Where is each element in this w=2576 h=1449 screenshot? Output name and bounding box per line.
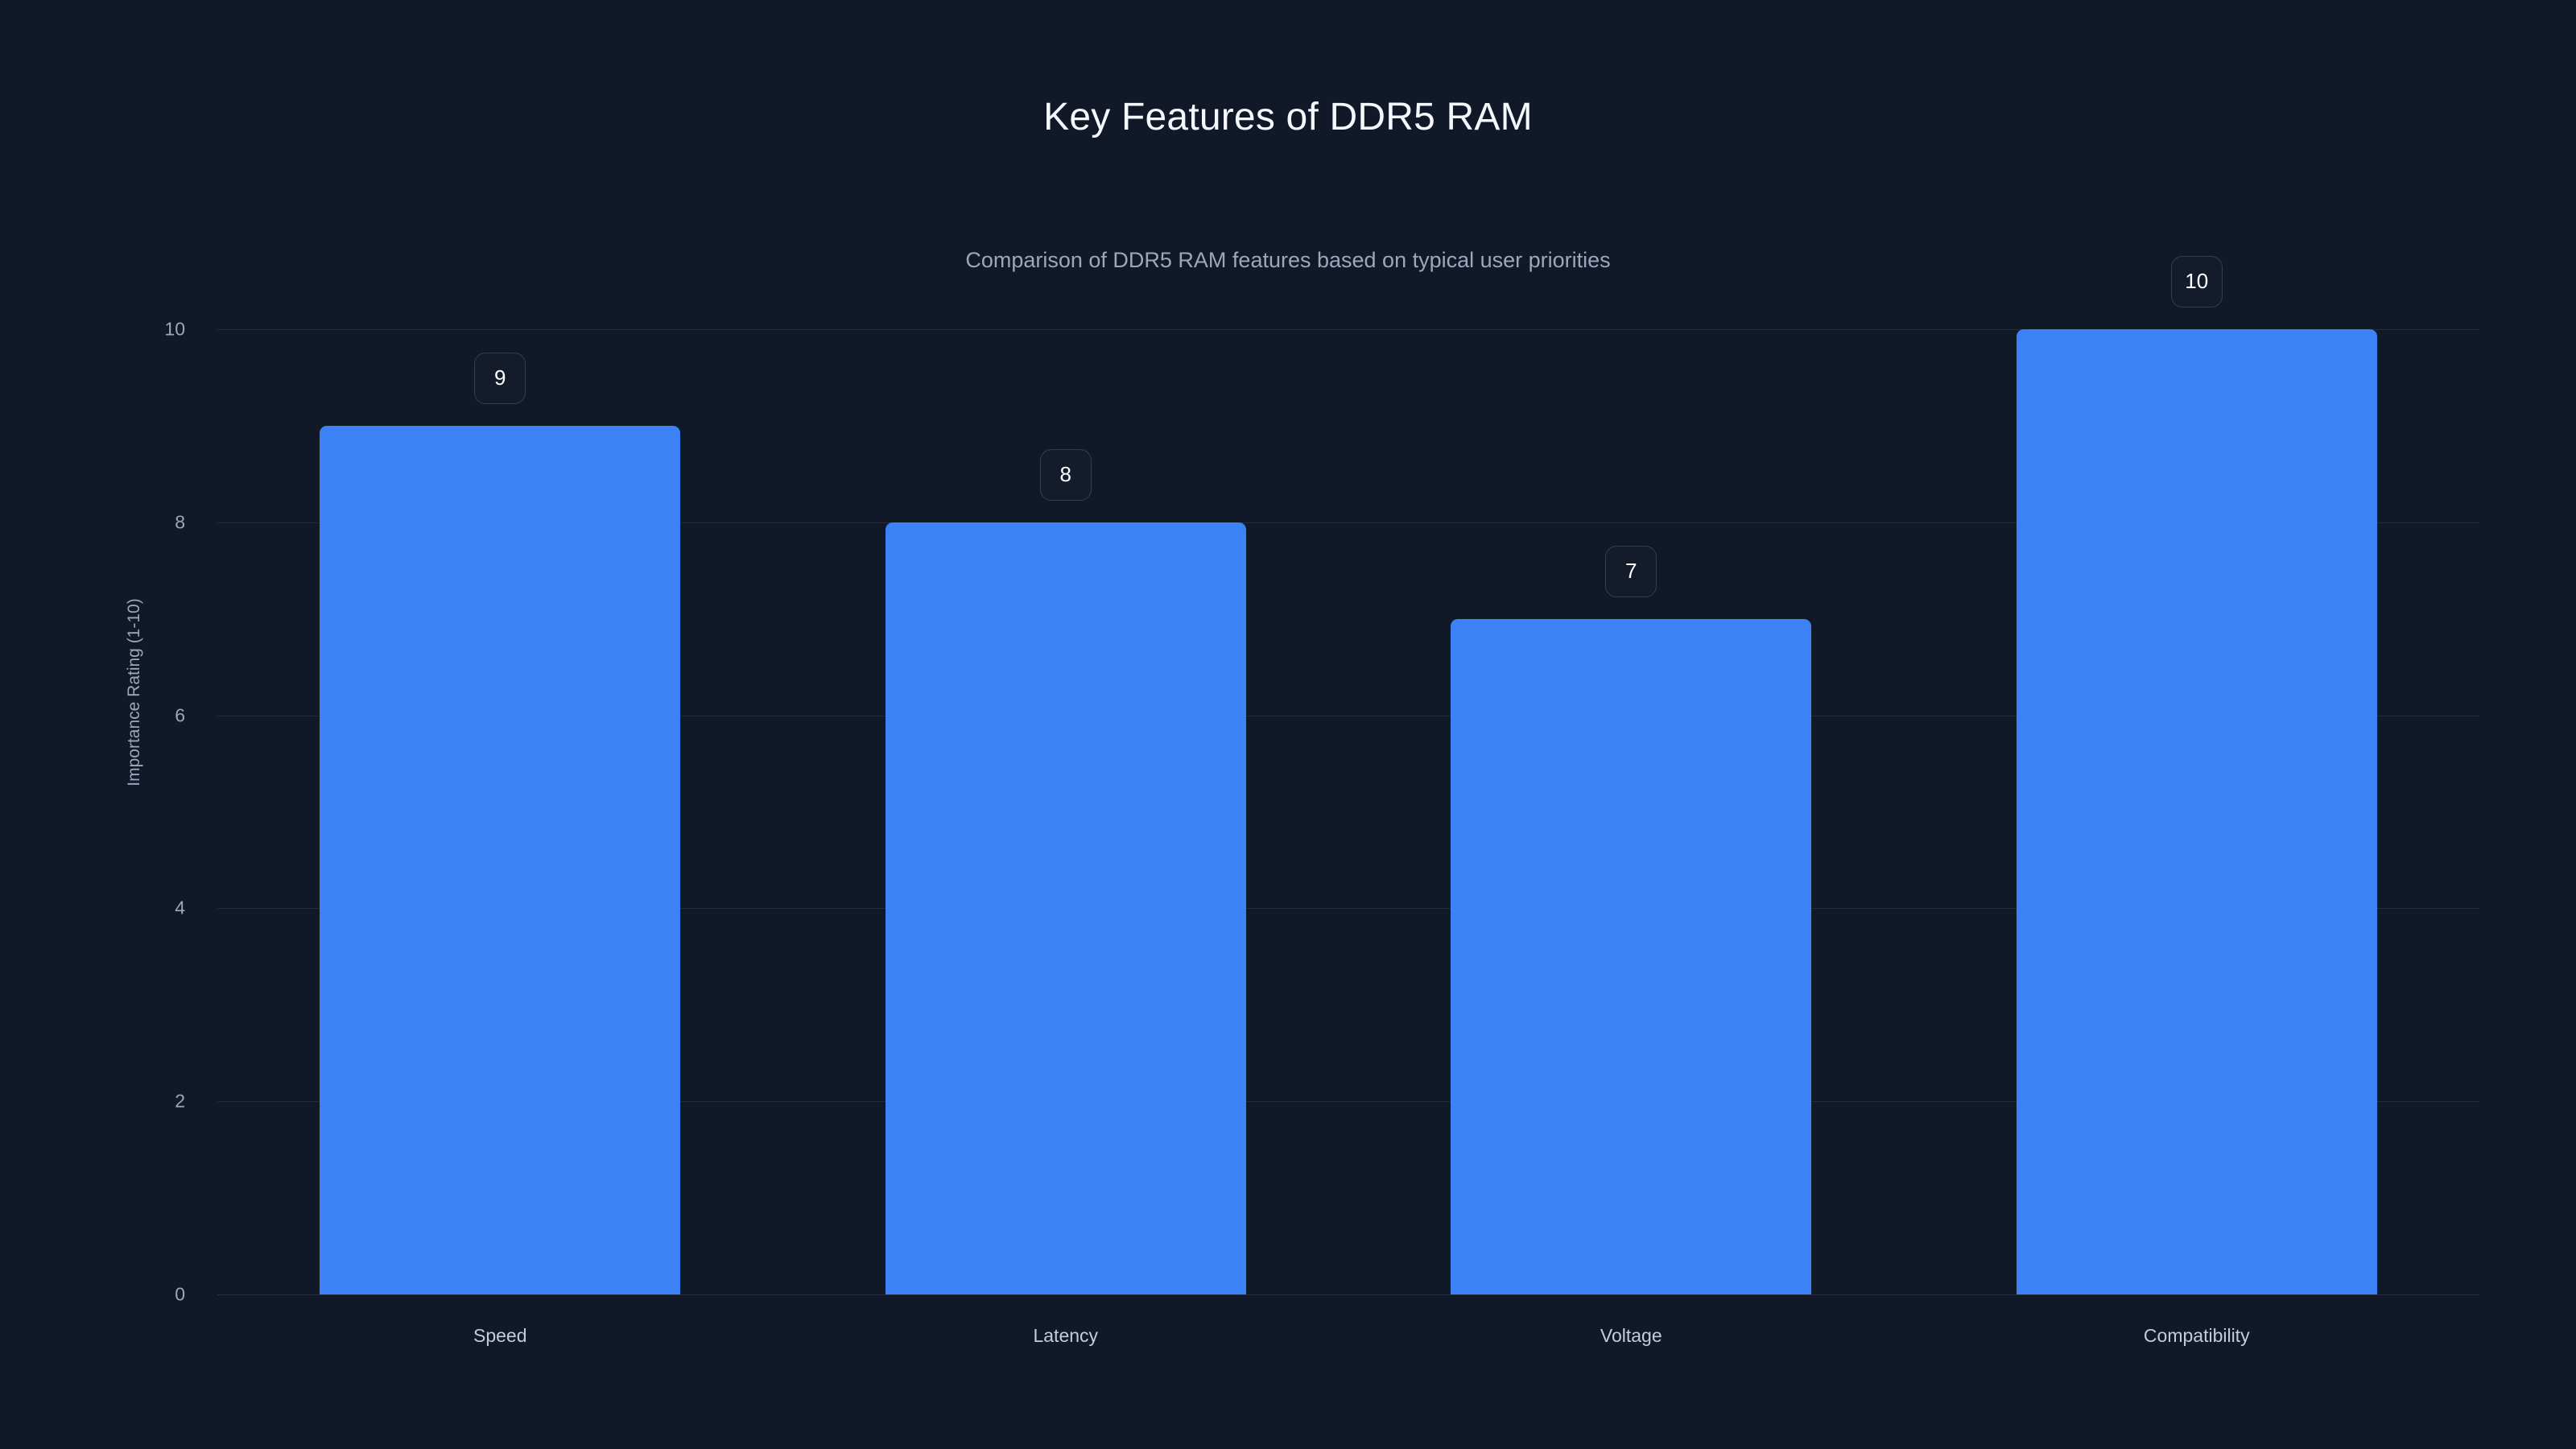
gridline	[217, 1294, 2479, 1295]
y-axis-tick-label: 2	[89, 1092, 185, 1111]
x-axis-category-label: Latency	[1033, 1327, 1098, 1345]
y-axis-tick-label: 6	[89, 706, 185, 724]
x-axis-category-label: Compatibility	[2144, 1327, 2250, 1345]
bar-chart-figure: Key Features of DDR5 RAM Comparison of D…	[0, 0, 2576, 1449]
bar-value-badge: 7	[1605, 546, 1657, 597]
bar-value-badge: 10	[2171, 256, 2223, 308]
y-axis-tick-label: 0	[89, 1286, 185, 1304]
bar[interactable]	[2017, 329, 2377, 1294]
y-axis-tick-label: 8	[89, 513, 185, 531]
x-axis-category-label: Voltage	[1600, 1327, 1662, 1345]
y-axis-tick-label: 4	[89, 899, 185, 918]
y-axis-tick-label: 10	[89, 320, 185, 339]
x-axis-category-label: Speed	[473, 1327, 527, 1345]
bar-value-badge: 8	[1040, 449, 1092, 501]
bar[interactable]	[320, 426, 680, 1294]
bar[interactable]	[1451, 619, 1811, 1294]
bar-value-badge: 9	[474, 353, 526, 404]
page-title: Key Features of DDR5 RAM	[0, 98, 2576, 137]
bar[interactable]	[885, 522, 1246, 1294]
plot-area	[217, 329, 2479, 1294]
